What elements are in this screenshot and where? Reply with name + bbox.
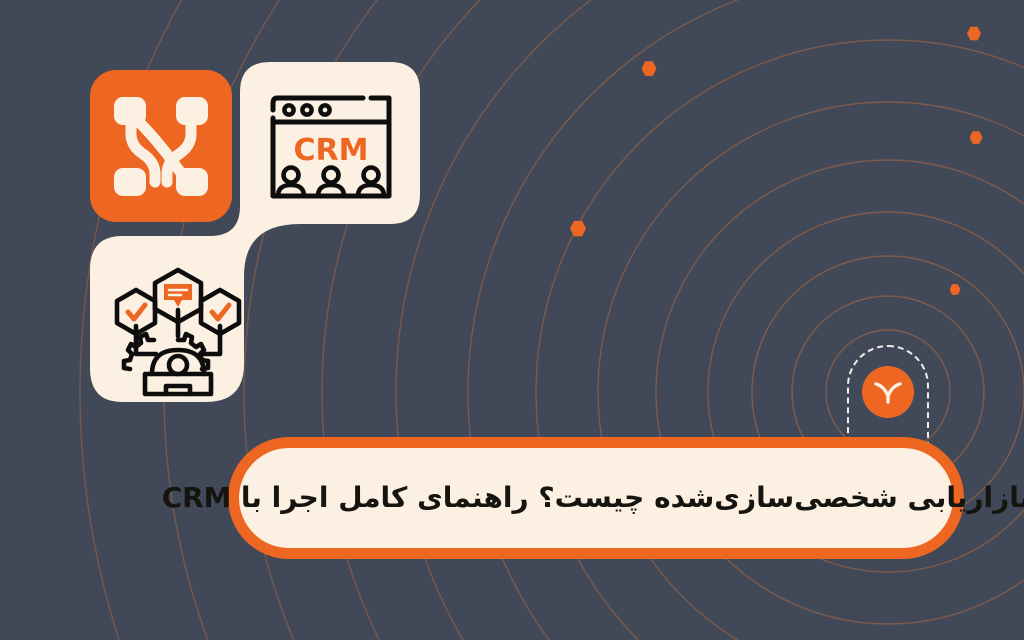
crm-label: CRM [294,133,369,168]
y-bird-logo-icon [862,366,914,418]
brand-logo-tile [90,70,232,222]
icon-cluster: CRM [84,62,420,402]
hex-dot-1 [967,26,981,41]
banner-canvas: CRM [0,0,1024,640]
title-pill: بازاریابی شخصی‌سازی‌شده چیست؟ راهنمای کا… [228,437,964,559]
hex-dot-4 [950,284,961,296]
page-title: بازاریابی شخصی‌سازی‌شده چیست؟ راهنمای کا… [162,479,1024,517]
hex-dot-0 [642,61,657,77]
persona-gear-hexagon-icon [104,262,252,402]
ring-5 [598,102,1024,640]
hex-dot-3 [570,220,586,237]
crm-window-icon: CRM [267,88,395,208]
hex-dot-2 [970,131,983,145]
